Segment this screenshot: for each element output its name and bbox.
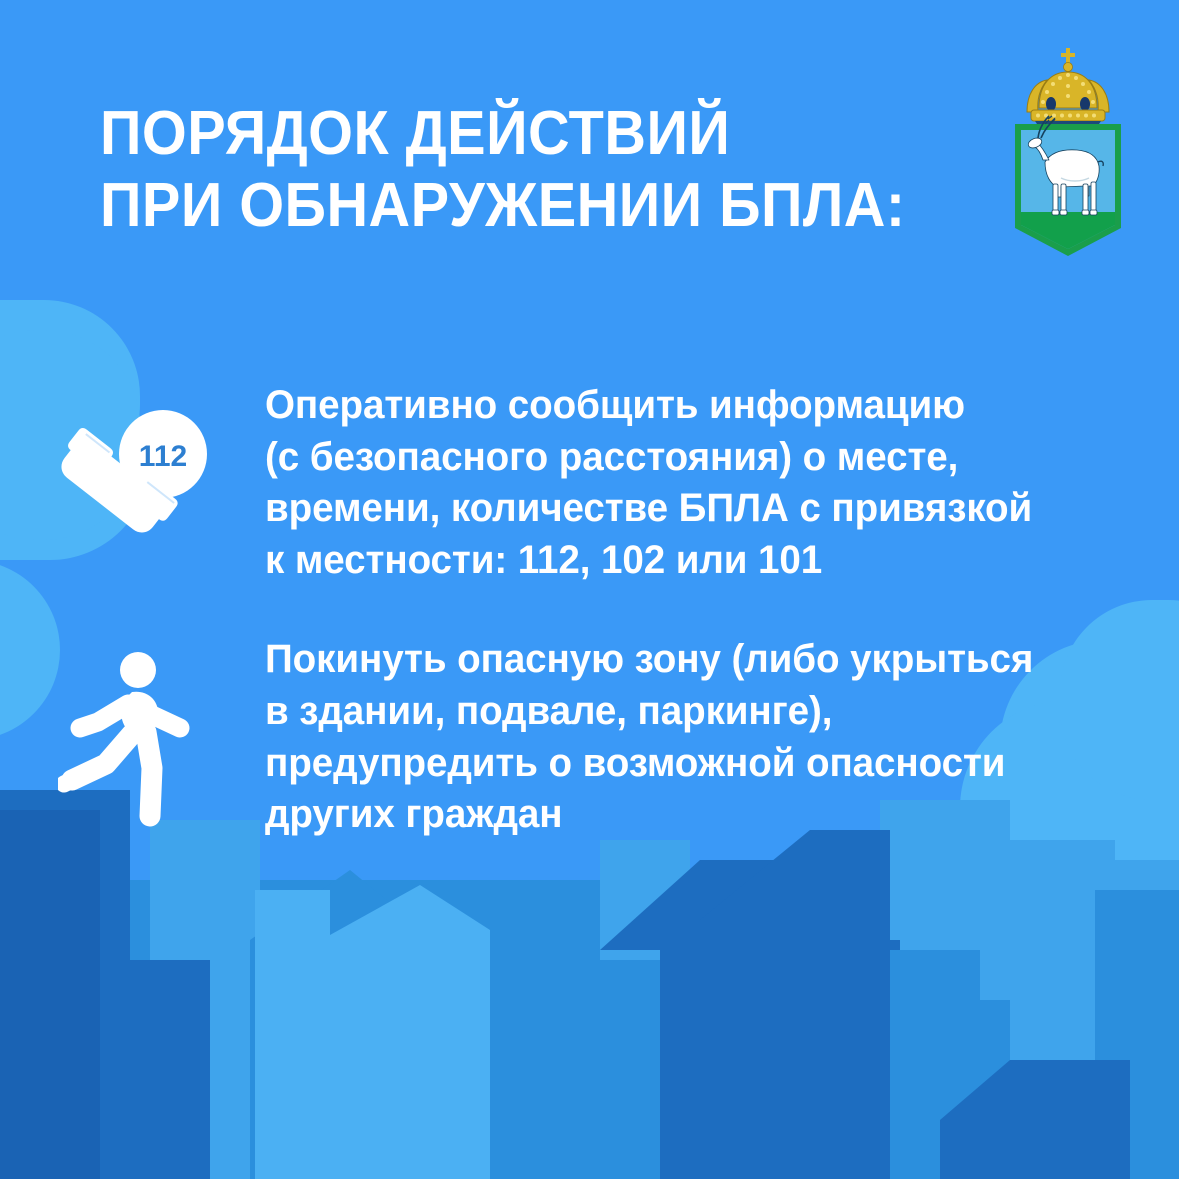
step-2-line-4: других граждан (265, 789, 1089, 841)
building-dark-left (0, 790, 130, 1179)
step-1-line-3: времени, количестве БПЛА с привязкой (265, 483, 1089, 535)
title-line-1: ПОРЯДОК ДЕЙСТВИЙ (100, 98, 872, 170)
step-1-text-cell: Оперативно сообщить информацию (с безопа… (265, 380, 1179, 586)
building-dark-left-low (0, 960, 210, 1179)
step-item-2: Покинуть опасную зону (либо укрыться в з… (0, 634, 1179, 840)
badge-number: 112 (138, 440, 186, 473)
building-step-center (490, 960, 660, 1179)
building-darkest-left (0, 810, 100, 1179)
step-2-line-3: предупредить о возможной опасности (265, 738, 1089, 790)
imperial-crown-icon (1027, 48, 1109, 130)
step-2-text-cell: Покинуть опасную зону (либо укрыться в з… (265, 634, 1179, 840)
building-right-1 (890, 950, 980, 1179)
page-title: ПОРЯДОК ДЕЙСТВИЙ ПРИ ОБНАРУЖЕНИИ БПЛА: (100, 98, 872, 242)
phone-112-icon: 112 (43, 402, 223, 552)
city-skyline (0, 790, 1179, 1179)
shield-grass (1021, 212, 1115, 249)
building-right-edge (1095, 890, 1179, 1179)
building-dark-bottom-right (940, 1060, 1130, 1179)
coat-of-arms-svg (1005, 46, 1131, 274)
building-dark-right-mass (700, 830, 890, 1179)
building-slab-1 (255, 890, 330, 1179)
coat-of-arms-samara (1005, 46, 1131, 274)
poster-header: ПОРЯДОК ДЕЙСТВИЙ ПРИ ОБНАРУЖЕНИИ БПЛА: (0, 0, 1179, 290)
step-2-line-1: Покинуть опасную зону (либо укрыться (265, 634, 1089, 686)
building-slab-2 (330, 885, 490, 1179)
running-person-icon (58, 648, 208, 833)
building-back-2 (600, 840, 690, 1179)
building-back-4 (1090, 860, 1179, 1179)
step-1-line-1: Оперативно сообщить информацию (265, 380, 1089, 432)
step-1-text: Оперативно сообщить информацию (с безопа… (265, 380, 1089, 586)
step-1-icon-cell: 112 (0, 380, 265, 552)
steps-list: 112 Оперативно сообщить информацию (с б (0, 380, 1179, 841)
building-dark-right-base (780, 940, 900, 1179)
step-1-line-2: (с безопасного расстояния) о месте, (265, 432, 1089, 484)
step-2-line-2: в здании, подвале, паркинге), (265, 686, 1089, 738)
title-line-2: ПРИ ОБНАРУЖЕНИИ БПЛА: (100, 170, 872, 242)
building-right-tower (1010, 840, 1115, 1179)
step-2-text: Покинуть опасную зону (либо укрыться в з… (265, 634, 1089, 840)
building-dark-center (660, 940, 780, 1179)
step-1-line-4: к местности: 112, 102 или 101 (265, 535, 1089, 587)
shield (1015, 116, 1121, 256)
building-back-1 (150, 820, 260, 1179)
building-slab-3 (430, 1040, 490, 1179)
building-dark-center-roof (600, 860, 780, 950)
cloud-right-lower (1080, 850, 1179, 1030)
building-back-3 (880, 800, 1010, 1179)
building-right-2 (960, 1000, 1030, 1179)
building-mid-1 (250, 870, 460, 1179)
poster-root: ПОРЯДОК ДЕЙСТВИЙ ПРИ ОБНАРУЖЕНИИ БПЛА: (0, 0, 1179, 1179)
step-2-icon-cell (0, 634, 265, 833)
step-item-1: 112 Оперативно сообщить информацию (с б (0, 380, 1179, 586)
skyline-base-band (0, 880, 1179, 1179)
